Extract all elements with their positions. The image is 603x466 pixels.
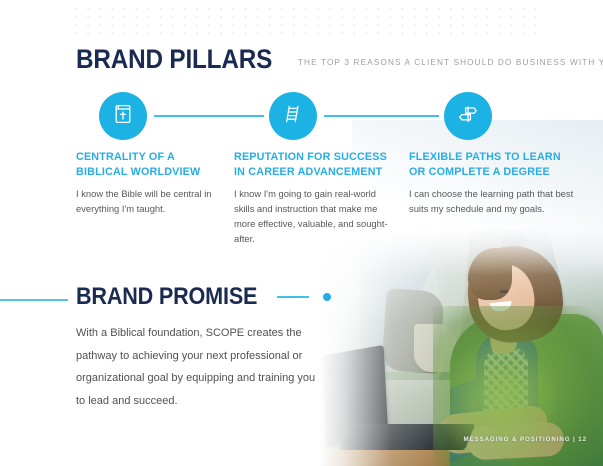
pillar-heading-2: REPUTATION FOR SUCCESS IN CAREER ADVANCE… bbox=[234, 150, 390, 179]
page-title: BRAND PILLARS bbox=[76, 44, 272, 75]
slide-footer: MESSAGING & POSITIONING | 12 bbox=[463, 436, 587, 443]
bible-book-cross-icon bbox=[111, 102, 135, 131]
pillar-heading-1: CENTRALITY OF A BIBLICAL WORLDVIEW bbox=[76, 150, 222, 179]
slide-header: BRAND PILLARS THE TOP 3 REASONS A CLIENT… bbox=[76, 44, 603, 75]
pillar-icon-row bbox=[76, 92, 546, 148]
pillar-icon-badge-2 bbox=[269, 92, 317, 140]
promise-dot-marker bbox=[323, 293, 331, 301]
page-subtitle: THE TOP 3 REASONS A CLIENT SHOULD DO BUS… bbox=[298, 58, 603, 67]
pillar-body-1: I know the Bible will be central in ever… bbox=[76, 186, 228, 216]
pillar-body-2: I know I'm going to gain real-world skil… bbox=[234, 186, 396, 246]
promise-body-text: With a Biblical foundation, SCOPE create… bbox=[76, 322, 316, 412]
pillar-column-3: FLEXIBLE PATHS TO LEARN OR COMPLETE A DE… bbox=[409, 150, 577, 216]
pillar-heading-3: FLEXIBLE PATHS TO LEARN OR COMPLETE A DE… bbox=[409, 150, 570, 179]
slide-canvas: BRAND PILLARS THE TOP 3 REASONS A CLIENT… bbox=[0, 0, 603, 466]
pillar-column-1: CENTRALITY OF A BIBLICAL WORLDVIEW I kno… bbox=[76, 150, 228, 216]
promise-title: BRAND PROMISE bbox=[76, 283, 257, 311]
brand-promise-header: BRAND PROMISE bbox=[76, 283, 331, 311]
signpost-icon bbox=[456, 102, 480, 131]
pillar-connector-line-2 bbox=[324, 115, 439, 117]
pillar-connector-line-1 bbox=[154, 115, 264, 117]
pillar-column-2: REPUTATION FOR SUCCESS IN CAREER ADVANCE… bbox=[234, 150, 396, 246]
dot-grid-decoration bbox=[70, 5, 536, 35]
promise-rule-right bbox=[277, 296, 309, 298]
photo-fade-top bbox=[318, 228, 603, 466]
ladder-icon bbox=[281, 102, 305, 131]
pillar-icon-badge-3 bbox=[444, 92, 492, 140]
pillar-body-3: I can choose the learning path that best… bbox=[409, 186, 577, 216]
promise-rule-left bbox=[0, 299, 68, 301]
pillar-icon-badge-1 bbox=[99, 92, 147, 140]
background-photo bbox=[318, 228, 603, 466]
brand-pillars-section: CENTRALITY OF A BIBLICAL WORLDVIEW I kno… bbox=[76, 92, 546, 148]
